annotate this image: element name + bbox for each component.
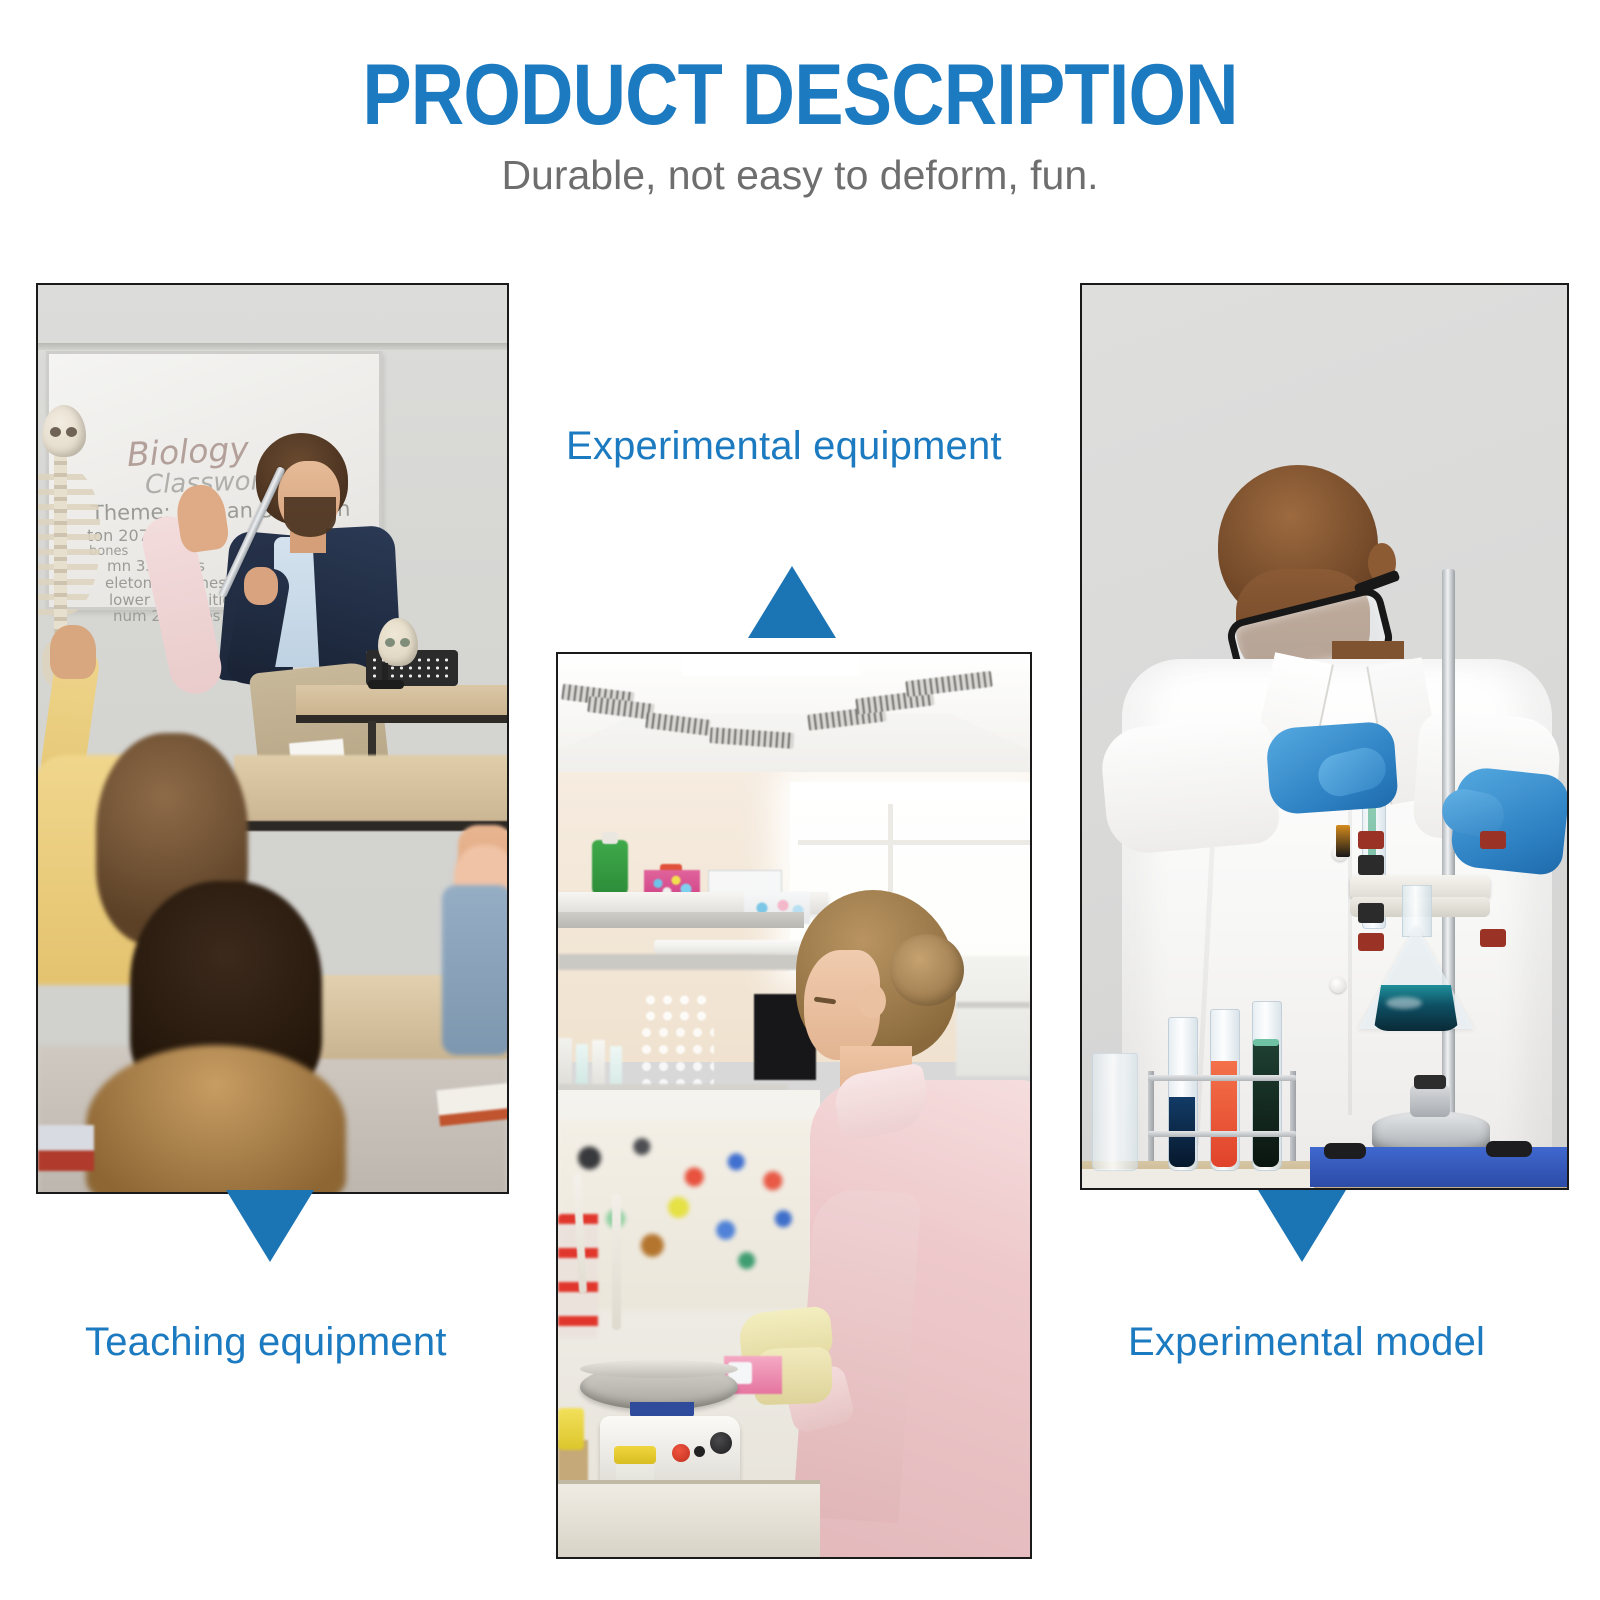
- skull-model: [378, 618, 418, 666]
- triangle-down-icon: [1258, 1190, 1346, 1262]
- teacher-hand: [244, 567, 278, 605]
- photo-experimental-model[interactable]: [1080, 283, 1569, 1190]
- skull-model-eye-left: [385, 638, 395, 647]
- front-desk: [296, 685, 509, 719]
- glass-beaker: [1092, 1053, 1138, 1171]
- balance-pan-rim: [580, 1360, 738, 1378]
- clamp-right-pad-top: [1480, 831, 1506, 849]
- tray-clip-left: [1324, 1143, 1366, 1159]
- glass-pipette-1: [612, 1194, 621, 1330]
- right-shelf: [956, 956, 1030, 1076]
- shelf-green-bottle: [592, 840, 628, 896]
- desk-book-2: [38, 1125, 94, 1171]
- researcher-hair-bun: [890, 934, 964, 1006]
- ceiling-skylight: [682, 654, 860, 676]
- burner-neck: [1410, 1085, 1450, 1117]
- orange-tube-rack: [642, 992, 710, 1026]
- clamp-jaw-black-top: [1358, 855, 1384, 875]
- shelf-bottle-cap: [602, 832, 618, 844]
- test-tube-rack-post-right: [1290, 1071, 1296, 1161]
- triangle-down-icon: [226, 1190, 314, 1262]
- test-tube-rack-post-left: [1148, 1071, 1154, 1161]
- skeleton-eye-right: [66, 427, 77, 437]
- header: PRODUCT DESCRIPTION Durable, not easy to…: [0, 0, 1600, 199]
- flask-blue-liquid: [1370, 985, 1462, 1031]
- tray-clip-right: [1486, 1141, 1532, 1157]
- callout-label-experimental-model: Experimental model: [1128, 1320, 1485, 1365]
- callout-label-teaching-equipment: Teaching equipment: [85, 1320, 447, 1365]
- classroom-scene: Biology Classwork Theme: Human Skeleton …: [38, 285, 507, 1192]
- lab-counter-white-top: [1082, 1169, 1314, 1189]
- flask-highlight: [1386, 997, 1422, 1009]
- burette-label: [1336, 825, 1350, 857]
- student-raised-hand-yellow: [50, 625, 96, 679]
- sample-jar-cap: [614, 1446, 656, 1464]
- shelf-under-light: [654, 940, 802, 954]
- bench-front-panel: [558, 1484, 820, 1558]
- balance-dial: [710, 1432, 732, 1454]
- test-tube-3-liquid-surface: [1253, 1039, 1279, 1046]
- photo-experimental-equipment[interactable]: [556, 652, 1032, 1559]
- upper-shelf-edge: [558, 912, 804, 928]
- photo-teaching-equipment[interactable]: Biology Classwork Theme: Human Skeleton …: [36, 283, 509, 1194]
- coat-sleeve-left: [1099, 716, 1281, 857]
- upper-bench-edge: [558, 954, 808, 970]
- wall-rail: [38, 343, 507, 350]
- researcher-ear: [858, 984, 886, 1018]
- chemist-scene: [1082, 285, 1567, 1188]
- student-denim-jacket: [442, 885, 509, 1055]
- test-tube-rack-bar-upper: [1148, 1075, 1296, 1081]
- right-shelf-ledge: [956, 1002, 1030, 1008]
- clamp-right-pad-bottom: [1480, 929, 1506, 947]
- window-mullion-horizontal: [798, 840, 1032, 845]
- laboratory-scene: [558, 654, 1030, 1557]
- middle-desk: [234, 755, 509, 825]
- teacher-beard: [284, 497, 336, 537]
- clamp-jaw-black-bottom: [1358, 903, 1384, 923]
- front-desk-edge: [296, 715, 509, 723]
- sample-jar-secondary: [558, 1408, 584, 1450]
- burner-wick-cap: [1414, 1075, 1446, 1089]
- test-tube-rack-bar-lower: [1148, 1131, 1296, 1137]
- skull-model-base: [368, 680, 404, 689]
- balance-power-button: [672, 1444, 690, 1462]
- triangle-up-icon: [748, 566, 836, 638]
- callout-label-experimental-equipment: Experimental equipment: [566, 424, 1002, 469]
- clamp-jaw-red-top: [1358, 831, 1384, 849]
- balance-tare-button: [694, 1446, 705, 1457]
- page-title: PRODUCT DESCRIPTION: [112, 0, 1488, 140]
- skeleton-eye-left: [50, 427, 61, 437]
- test-tube-3-liquid-dark: [1253, 1041, 1279, 1167]
- coat-button: [1330, 977, 1346, 993]
- student-blond-hair: [86, 1045, 346, 1194]
- skull-model-eye-right: [400, 638, 410, 647]
- page-subtitle: Durable, not easy to deform, fun.: [0, 140, 1600, 199]
